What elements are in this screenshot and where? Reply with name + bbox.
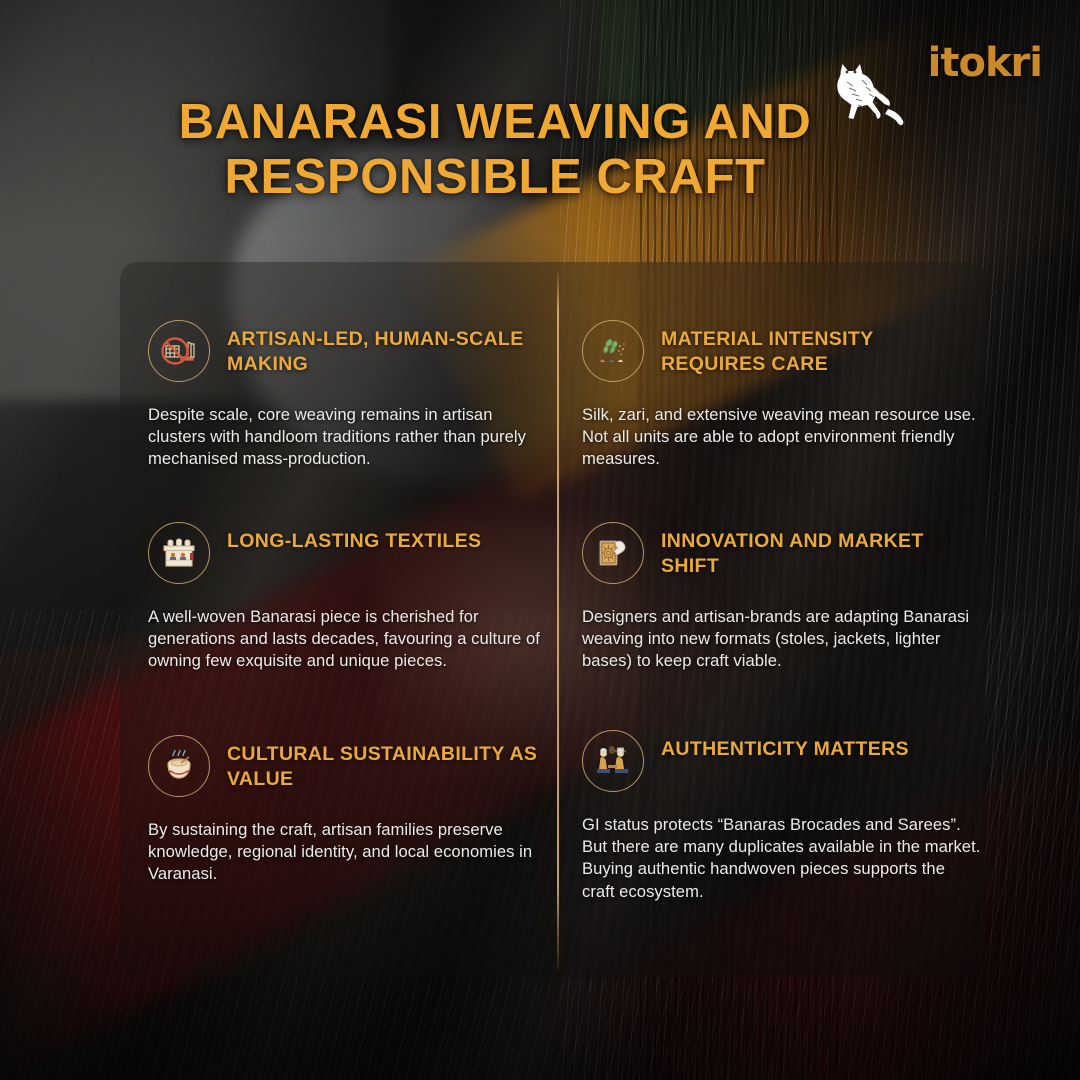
card-title: AUTHENTICITY MATTERS [661, 730, 909, 762]
brand-logo-text: itokri [928, 40, 1042, 86]
column-divider [557, 270, 559, 970]
card-title: ARTISAN-LED, HUMAN-SCALE MAKING [227, 320, 548, 376]
card-cultural-sustainability: CULTURAL SUSTAINABILITY AS VALUE By sust… [148, 735, 548, 886]
card-body: A well-woven Banarasi piece is cherished… [148, 606, 548, 673]
card-header: MATERIAL INTENSITY REQUIRES CARE [582, 320, 982, 382]
artisan-shop-icon [148, 522, 210, 584]
poster-header: BANARASI WEAVING AND RESPONSIBLE CRAFT i… [0, 0, 1080, 262]
fabric-swatch-hand-icon [582, 522, 644, 584]
card-body: Designers and artisan-brands are adaptin… [582, 606, 982, 673]
card-title: MATERIAL INTENSITY REQUIRES CARE [661, 320, 982, 376]
cat-logo-icon [822, 52, 912, 132]
card-header: LONG-LASTING TEXTILES [148, 522, 548, 584]
card-header: INNOVATION AND MARKET SHIFT [582, 522, 982, 584]
page-title: BANARASI WEAVING AND RESPONSIBLE CRAFT [90, 95, 900, 205]
card-title: LONG-LASTING TEXTILES [227, 522, 481, 554]
card-header: CULTURAL SUSTAINABILITY AS VALUE [148, 735, 548, 797]
card-artisan-led: ARTISAN-LED, HUMAN-SCALE MAKING Despite … [148, 320, 548, 471]
no-mass-production-icon [148, 320, 210, 382]
card-body: By sustaining the craft, artisan familie… [148, 819, 548, 886]
infographic-poster: BANARASI WEAVING AND RESPONSIBLE CRAFT i… [0, 0, 1080, 1080]
dye-pot-icon [148, 735, 210, 797]
card-title: INNOVATION AND MARKET SHIFT [661, 522, 982, 578]
natural-dye-leaves-icon [582, 320, 644, 382]
card-innovation-market-shift: INNOVATION AND MARKET SHIFT Designers an… [582, 522, 982, 673]
card-title: CULTURAL SUSTAINABILITY AS VALUE [227, 735, 548, 791]
two-artisans-icon [582, 730, 644, 792]
card-body: GI status protects “Banaras Brocades and… [582, 814, 982, 903]
card-material-intensity: MATERIAL INTENSITY REQUIRES CARE Silk, z… [582, 320, 982, 471]
card-long-lasting-textiles: LONG-LASTING TEXTILES A well-woven Banar… [148, 522, 548, 673]
card-body: Silk, zari, and extensive weaving mean r… [582, 404, 982, 471]
card-header: AUTHENTICITY MATTERS [582, 730, 982, 792]
card-authenticity-matters: AUTHENTICITY MATTERS GI status protects … [582, 730, 982, 903]
card-body: Despite scale, core weaving remains in a… [148, 404, 548, 471]
card-header: ARTISAN-LED, HUMAN-SCALE MAKING [148, 320, 548, 382]
